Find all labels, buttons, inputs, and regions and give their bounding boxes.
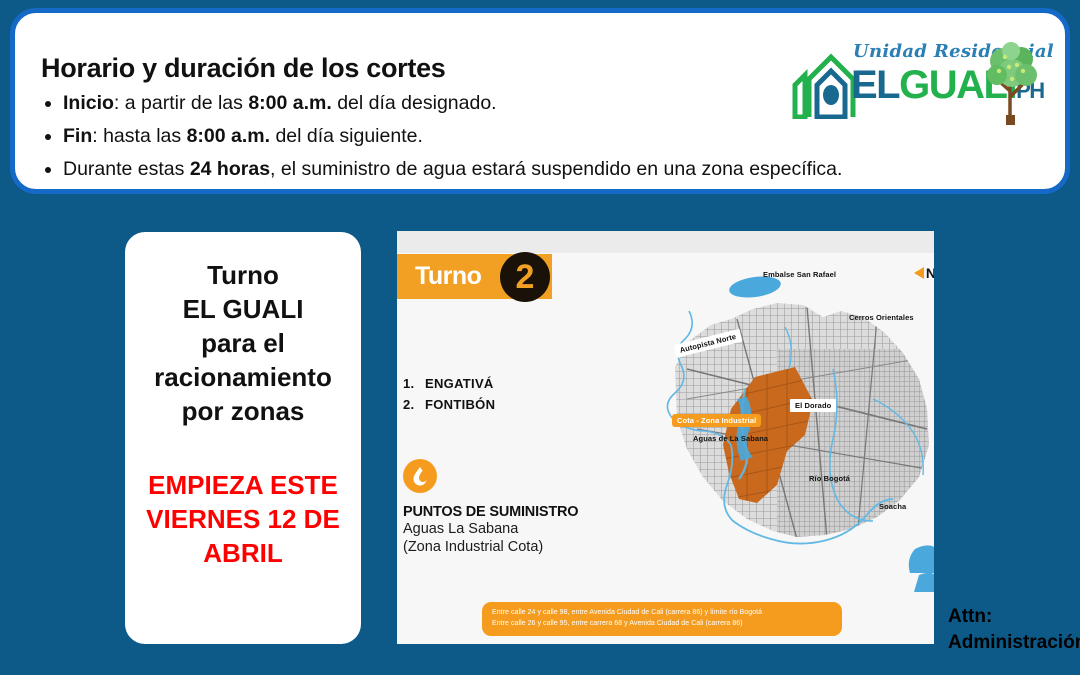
zone-item-fontibon: 2.FONTIBÓN bbox=[403, 394, 495, 415]
zone-number-1: 1. bbox=[403, 373, 425, 394]
water-drop-icon bbox=[403, 459, 437, 493]
turno-heading-line-4: racionamiento bbox=[135, 360, 351, 394]
map-label-cerros-orientales: Cerros Orientales bbox=[849, 313, 914, 322]
zone-name-1: ENGATIVÁ bbox=[425, 376, 494, 391]
map-label-aguas-de-la-sabana: Aguas de La Sabana bbox=[693, 434, 768, 443]
turno-number-badge: 2 bbox=[500, 252, 550, 302]
turno-heading-line-3: para el bbox=[135, 326, 351, 360]
bullet-inicio-sep: : a partir de las bbox=[114, 92, 248, 114]
map-label-el-dorado: El Dorado bbox=[790, 399, 836, 412]
turno-number: 2 bbox=[500, 252, 550, 302]
zone-number-2: 2. bbox=[403, 394, 425, 415]
supply-points-line-1: Aguas La Sabana bbox=[403, 520, 613, 538]
supply-points-title: PUNTOS DE SUMINISTRO bbox=[403, 504, 613, 520]
bullet-fin-strong: 8:00 a.m. bbox=[187, 125, 270, 147]
north-letter: N bbox=[926, 265, 934, 281]
attn-block: Attn: Administración bbox=[948, 604, 1080, 656]
coverage-note-line-1: Entre calle 24 y calle 98, entre Avenida… bbox=[492, 608, 832, 619]
tree-icon bbox=[981, 39, 1043, 127]
bullet-inicio-tail: del día designado. bbox=[332, 92, 497, 114]
bullet-duracion-sep: Durante estas bbox=[63, 158, 190, 180]
map-label-cota-zona-industrial: Cota - Zona Industrial bbox=[672, 414, 761, 427]
zone-item-engativa: 1.ENGATIVÁ bbox=[403, 373, 495, 394]
schedule-header-card: Horario y duración de los cortes Inicio:… bbox=[10, 8, 1070, 194]
bullet-duracion-tail: , el suministro de agua estará suspendid… bbox=[270, 158, 842, 180]
bullet-duracion-strong: 24 horas bbox=[190, 158, 270, 180]
attn-value: Administración bbox=[948, 630, 1080, 656]
bogota-map-graphic: Embalse San Rafael Cerros Orientales Aut… bbox=[627, 249, 934, 594]
supply-points-line-2: (Zona Industrial Cota) bbox=[403, 538, 613, 556]
bullet-fin-label: Fin bbox=[63, 125, 92, 147]
turno-heading-line-5: por zonas bbox=[135, 394, 351, 428]
bullet-inicio-label: Inicio bbox=[63, 92, 114, 114]
north-indicator: N bbox=[913, 265, 934, 281]
map-label-embalse-san-rafael: Embalse San Rafael bbox=[763, 270, 836, 279]
turno-heading-line-1: Turno bbox=[135, 258, 351, 292]
bullet-duracion: Durante estas 24 horas, el suministro de… bbox=[41, 157, 1041, 182]
turno-heading: Turno EL GUALI para el racionamiento por… bbox=[135, 258, 351, 428]
coverage-note-banner: Entre calle 24 y calle 98, entre Avenida… bbox=[482, 602, 842, 636]
zone-name-2: FONTIBÓN bbox=[425, 397, 495, 412]
coverage-note-line-2: Entre calle 26 y calle 95, entre carrera… bbox=[492, 619, 832, 630]
map-label-soacha: Soacha bbox=[879, 502, 906, 511]
start-date-line-3: ABRIL bbox=[133, 536, 353, 570]
north-arrow-icon bbox=[913, 266, 925, 280]
map-label-rio-bogota: Río Bogotá bbox=[809, 474, 850, 483]
map-panel: Turno 2 1.ENGATIVÁ 2.FONTIBÓN PUNTOS DE … bbox=[397, 231, 934, 644]
logo-word-el: EL bbox=[851, 63, 899, 107]
attn-label: Attn: bbox=[948, 604, 1080, 630]
turno-heading-line-2: EL GUALI bbox=[135, 292, 351, 326]
start-date-notice: EMPIEZA ESTEVIERNES 12 DEABRIL bbox=[133, 468, 353, 570]
turno-info-card: Turno EL GUALI para el racionamiento por… bbox=[125, 232, 361, 644]
zone-list: 1.ENGATIVÁ 2.FONTIBÓN bbox=[403, 373, 495, 415]
start-date-line-1: EMPIEZA ESTE bbox=[133, 468, 353, 502]
turno-band-label: Turno bbox=[415, 262, 481, 291]
bullet-fin-sep: : hasta las bbox=[92, 125, 186, 147]
start-date-line-2: VIERNES 12 DE bbox=[133, 502, 353, 536]
supply-points-block: PUNTOS DE SUMINISTRO Aguas La Sabana (Zo… bbox=[403, 459, 613, 556]
bullet-inicio-strong: 8:00 a.m. bbox=[248, 92, 331, 114]
el-guali-logo: Unidad Residencial ELGUALIPH bbox=[791, 37, 1041, 129]
bullet-fin-tail: del día siguiente. bbox=[270, 125, 423, 147]
page-title: Horario y duración de los cortes bbox=[41, 53, 446, 84]
